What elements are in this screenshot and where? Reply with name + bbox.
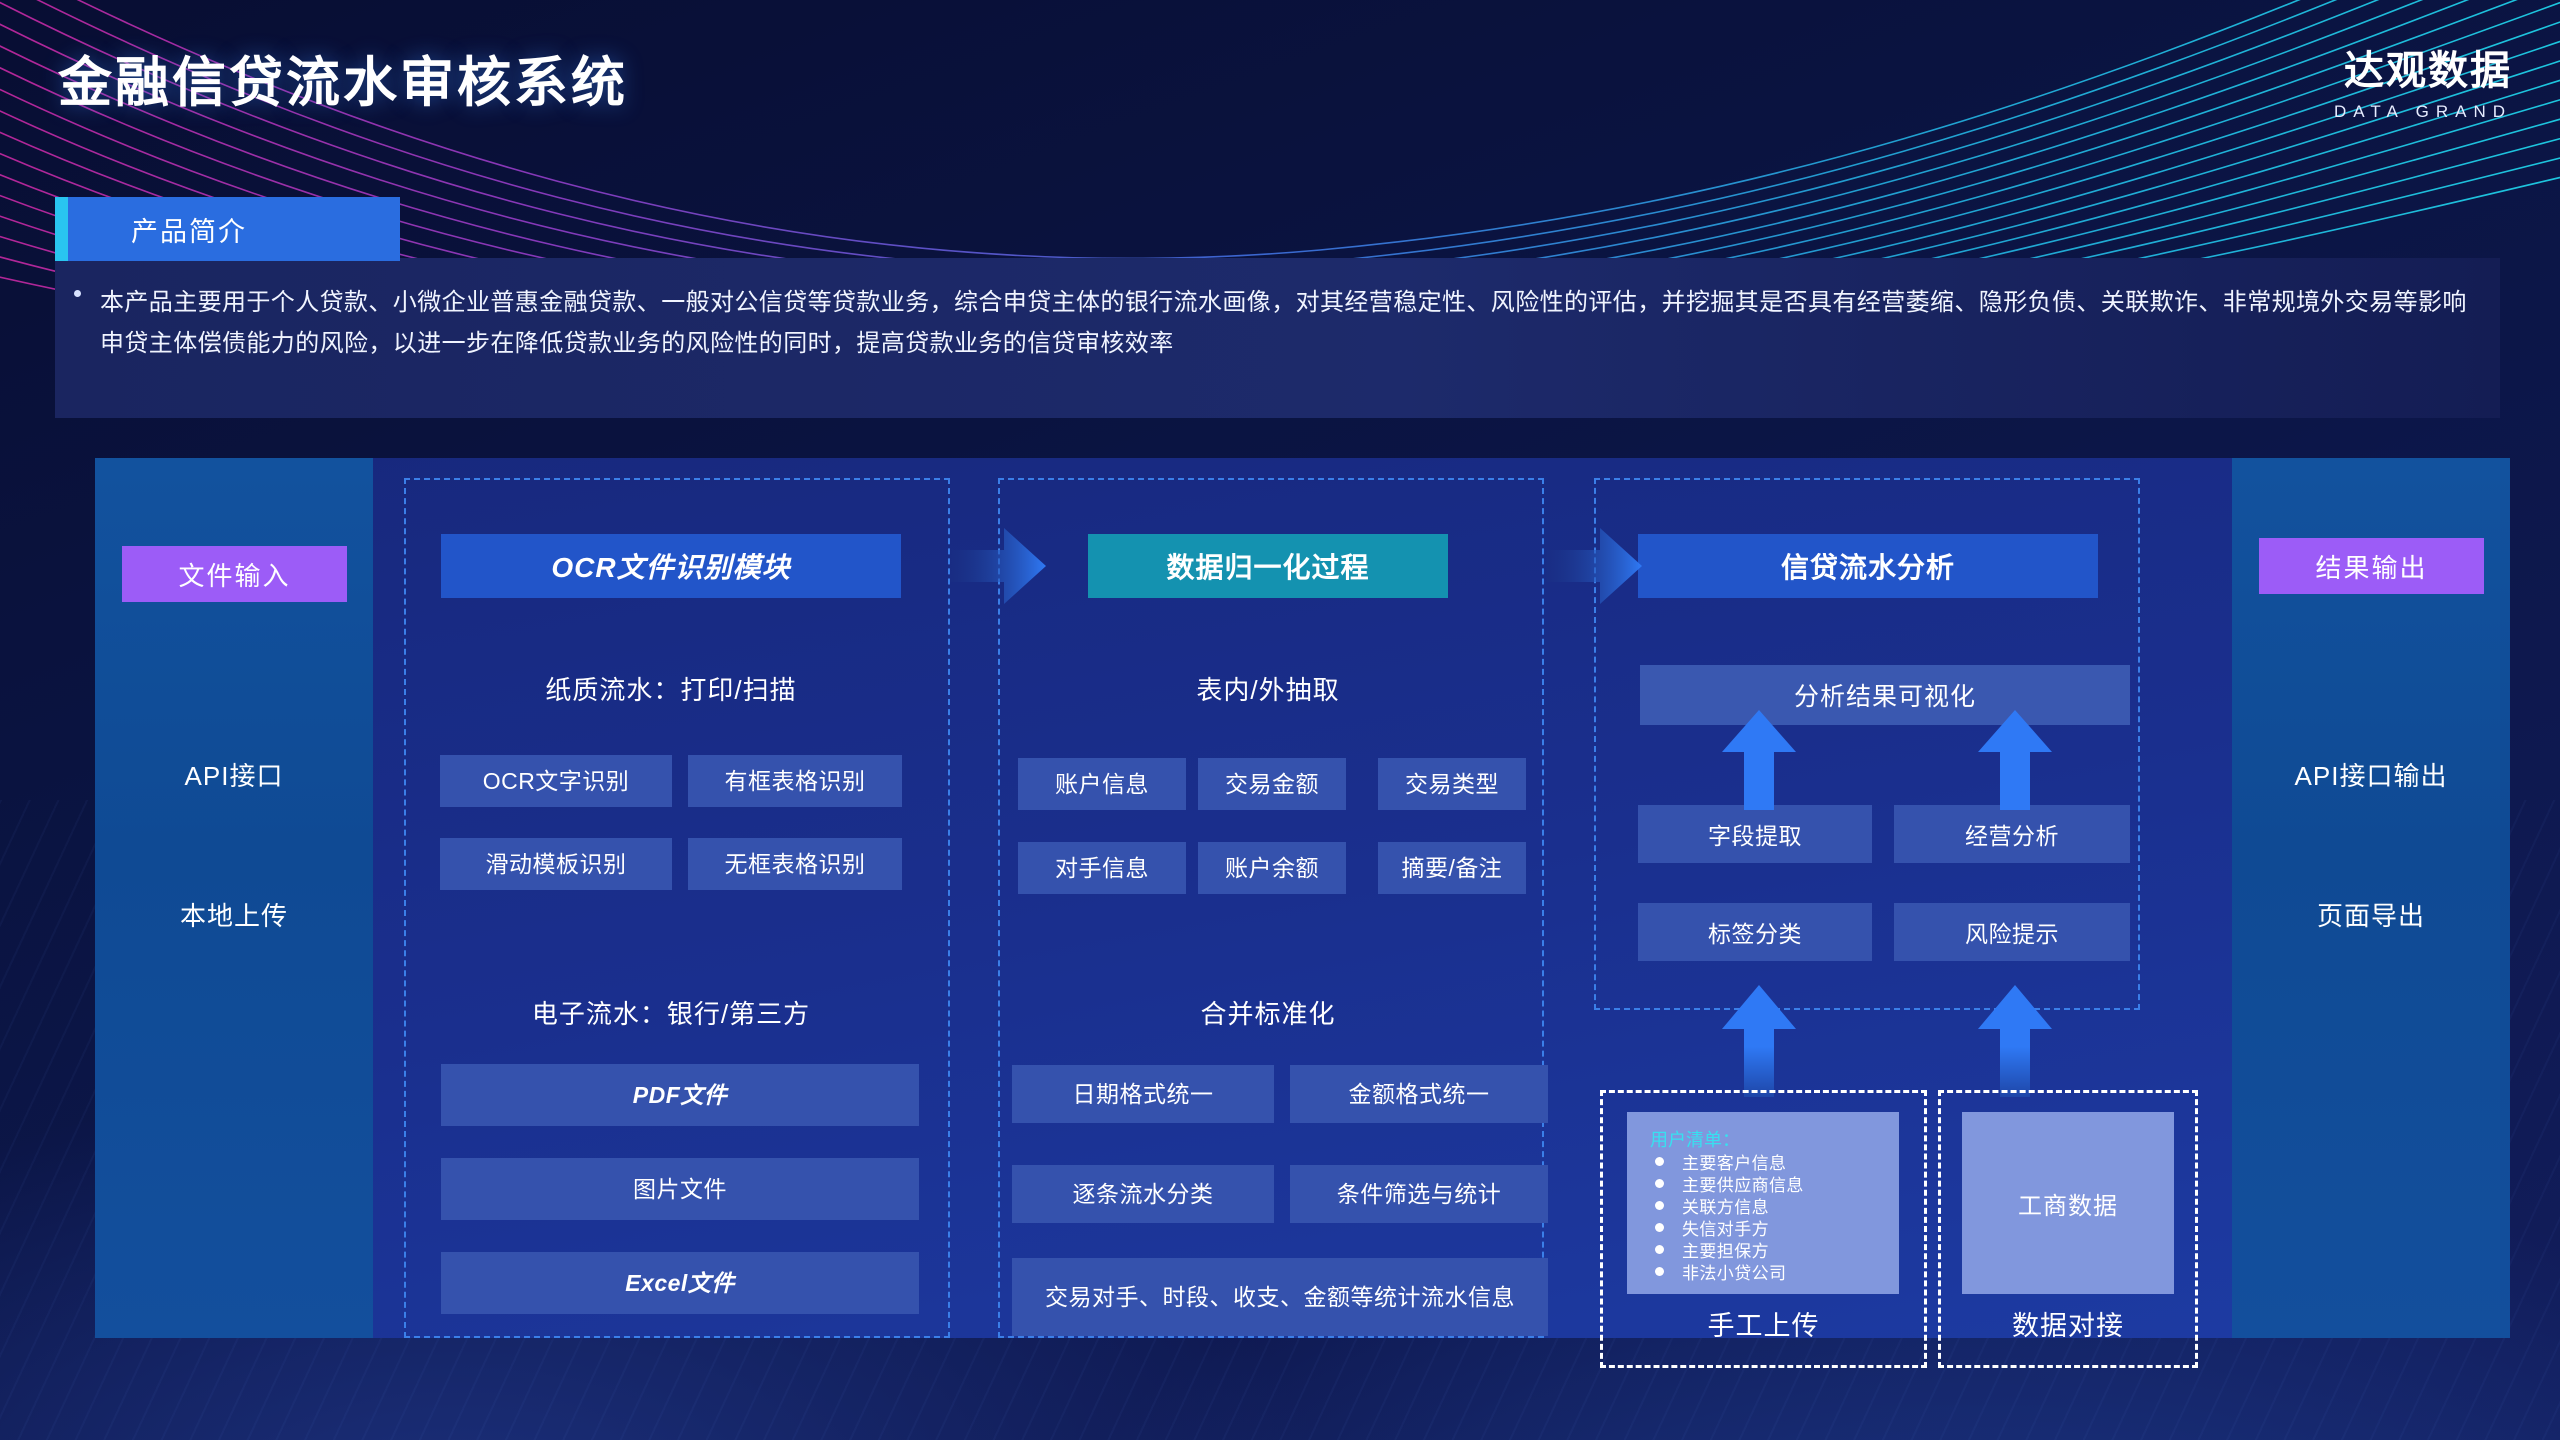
input-item-local-upload: 本地上传 bbox=[95, 896, 373, 933]
stage1-cell-image[interactable]: 图片文件 bbox=[441, 1158, 919, 1220]
user-list: 主要客户信息 主要供应商信息 关联方信息 失信对手方 主要担保方 非法小贷公司 bbox=[1655, 1150, 1804, 1282]
page-title: 金融信贷流水审核系统 bbox=[58, 38, 628, 117]
stage2-cell-amount-format[interactable]: 金额格式统一 bbox=[1290, 1065, 1548, 1123]
stage2-cell-wide-statistics[interactable]: 交易对手、时段、收支、金额等统计流水信息 bbox=[1012, 1258, 1548, 1336]
arrow-right-icon-1 bbox=[950, 528, 1046, 604]
bullet-icon bbox=[1655, 1267, 1664, 1276]
list-item: 主要担保方 bbox=[1655, 1238, 1804, 1260]
data-docking-label: 数据对接 bbox=[1938, 1304, 2198, 1343]
bullet-icon bbox=[1655, 1201, 1664, 1210]
stage2-cell-account-balance[interactable]: 账户余额 bbox=[1198, 842, 1346, 894]
stage2-cell-txn-amount[interactable]: 交易金额 bbox=[1198, 758, 1346, 810]
input-badge: 文件输入 bbox=[122, 546, 347, 602]
stage2-cell-summary-remark[interactable]: 摘要/备注 bbox=[1378, 842, 1526, 894]
bullet-icon bbox=[1655, 1157, 1664, 1166]
stage2-cell-per-record-classify[interactable]: 逐条流水分类 bbox=[1012, 1165, 1274, 1223]
stage-analysis-title: 信贷流水分析 bbox=[1638, 534, 2098, 598]
stage1-cell-excel[interactable]: Excel文件 bbox=[441, 1252, 919, 1314]
arrow-up-icon-3 bbox=[1722, 985, 1796, 1097]
output-item-api: API接口输出 bbox=[2232, 756, 2510, 793]
logo-en-text: DATA GRAND bbox=[2334, 102, 2512, 122]
logo-cn-text: 达观数据 bbox=[2334, 38, 2512, 96]
output-badge: 结果输出 bbox=[2259, 538, 2484, 594]
list-item: 主要供应商信息 bbox=[1655, 1172, 1804, 1194]
stage1-cell-bordered-table[interactable]: 有框表格识别 bbox=[688, 755, 902, 807]
list-item: 非法小贷公司 bbox=[1655, 1260, 1804, 1282]
stage2-cell-account-info[interactable]: 账户信息 bbox=[1018, 758, 1186, 810]
stage3-cell-field-extraction[interactable]: 字段提取 bbox=[1638, 805, 1872, 863]
list-item: 失信对手方 bbox=[1655, 1216, 1804, 1238]
stage2-cell-filter-statistics[interactable]: 条件筛选与统计 bbox=[1290, 1165, 1548, 1223]
brand-logo: 达观数据 DATA GRAND bbox=[2334, 38, 2512, 122]
arrow-up-icon-1 bbox=[1722, 710, 1796, 810]
stage1-cell-sliding-template[interactable]: 滑动模板识别 bbox=[440, 838, 672, 890]
manual-upload-label: 手工上传 bbox=[1600, 1304, 1927, 1343]
stage2-group2-label: 合并标准化 bbox=[1038, 994, 1498, 1031]
intro-bullet-icon bbox=[74, 290, 81, 297]
stage3-cell-tag-classification[interactable]: 标签分类 bbox=[1638, 903, 1872, 961]
stage3-cell-business-analysis[interactable]: 经营分析 bbox=[1894, 805, 2130, 863]
stage1-cell-ocr-text[interactable]: OCR文字识别 bbox=[440, 755, 672, 807]
stage3-cell-risk-alert[interactable]: 风险提示 bbox=[1894, 903, 2130, 961]
intro-tab-label: 产品简介 bbox=[131, 210, 247, 249]
list-item: 关联方信息 bbox=[1655, 1194, 1804, 1216]
bullet-icon bbox=[1655, 1223, 1664, 1232]
intro-text: 本产品主要用于个人贷款、小微企业普惠金融贷款、一般对公信贷等贷款业务，综合申贷主… bbox=[100, 282, 2470, 365]
stage1-group2-label: 电子流水：银行/第三方 bbox=[441, 994, 901, 1031]
stage2-cell-date-format[interactable]: 日期格式统一 bbox=[1012, 1065, 1274, 1123]
bullet-icon bbox=[1655, 1179, 1664, 1188]
bullet-icon bbox=[1655, 1245, 1664, 1254]
stage2-group1-label: 表内/外抽取 bbox=[1038, 670, 1498, 707]
stage-ocr-title: OCR文件识别模块 bbox=[441, 534, 901, 598]
arrow-up-icon-4 bbox=[1978, 985, 2052, 1097]
stage3-visualization-box[interactable]: 分析结果可视化 bbox=[1640, 665, 2130, 725]
output-item-page-export: 页面导出 bbox=[2232, 896, 2510, 933]
stage1-cell-pdf[interactable]: PDF文件 bbox=[441, 1064, 919, 1126]
input-item-api: API接口 bbox=[95, 756, 373, 793]
arrow-right-icon-2 bbox=[1546, 528, 1642, 604]
stage1-cell-borderless-table[interactable]: 无框表格识别 bbox=[688, 838, 902, 890]
business-data-card: 工商数据 bbox=[1962, 1112, 2174, 1294]
stage-normalization-title: 数据归一化过程 bbox=[1088, 534, 1448, 598]
stage2-cell-counterparty-info[interactable]: 对手信息 bbox=[1018, 842, 1186, 894]
list-item: 主要客户信息 bbox=[1655, 1150, 1804, 1172]
stage2-cell-txn-type[interactable]: 交易类型 bbox=[1378, 758, 1526, 810]
stage1-group1-label: 纸质流水：打印/扫描 bbox=[441, 670, 901, 707]
arrow-up-icon-2 bbox=[1978, 710, 2052, 810]
intro-section-tab: 产品简介 bbox=[55, 197, 400, 261]
